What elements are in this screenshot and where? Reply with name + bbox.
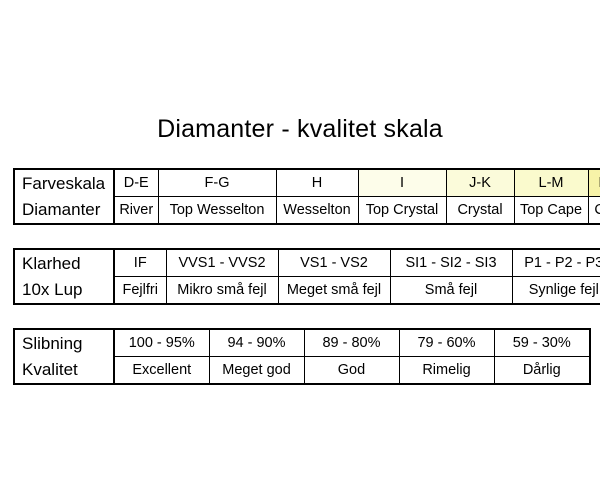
cut-scale-row-label: SlibningKvalitet: [14, 329, 114, 384]
color-scale-name-cell-3: Top Crystal: [358, 197, 446, 225]
cut-scale-name-cell-4: Dårlig: [494, 357, 590, 385]
color-scale-name-cell-2: Wesselton: [276, 197, 358, 225]
cut-scale-grade-cell-2: 89 - 80%: [304, 329, 399, 357]
cut-scale-name-cell-0: Excellent: [114, 357, 209, 385]
clarity-scale-grade-cell-1: VVS1 - VVS2: [166, 249, 278, 277]
klarhed-10x-lup-table: Klarhed10x LupIFVVS1 - VVS2VS1 - VS2SI1 …: [13, 248, 600, 305]
color-scale-grade-cell-1: F-G: [158, 169, 276, 197]
clarity-scale-name-cell-0: Fejlfri: [114, 277, 166, 305]
cut-scale-grade-cell-3: 79 - 60%: [399, 329, 494, 357]
color-scale-name-cell-1: Top Wesselton: [158, 197, 276, 225]
clarity-scale-grade-cell-4: P1 - P2 - P3: [512, 249, 600, 277]
cut-scale-grade-row: SlibningKvalitet100 - 95%94 - 90%89 - 80…: [14, 329, 590, 357]
color-scale-grade-cell-2: H: [276, 169, 358, 197]
clarity-scale-name-cell-1: Mikro små fejl: [166, 277, 278, 305]
cut-scale-name-cell-2: God: [304, 357, 399, 385]
document-page: Diamanter - kvalitet skala FarveskalaDia…: [0, 0, 600, 500]
farveskala-diamanter-table: FarveskalaDiamanterD-EF-GHIJ-KL-MN-ORive…: [13, 168, 600, 225]
cut-scale-name-cell-3: Rimelig: [399, 357, 494, 385]
cut-scale-grade-cell-1: 94 - 90%: [209, 329, 304, 357]
color-scale-grade-cell-6: N-O: [588, 169, 600, 197]
color-scale-grade-cell-5: L-M: [514, 169, 588, 197]
color-scale-name-cell-0: River: [114, 197, 158, 225]
cut-scale-grade-cell-4: 59 - 30%: [494, 329, 590, 357]
color-scale-name-cell-6: Cape: [588, 197, 600, 225]
color-scale-row-label-line-1: Diamanter: [22, 197, 113, 223]
color-table-body: FarveskalaDiamanterD-EF-GHIJ-KL-MN-ORive…: [14, 169, 600, 224]
cut-scale-row-label-line-0: Slibning: [22, 331, 113, 357]
clarity-table-body: Klarhed10x LupIFVVS1 - VVS2VS1 - VS2SI1 …: [14, 249, 600, 304]
clarity-scale-grade-row: Klarhed10x LupIFVVS1 - VVS2VS1 - VS2SI1 …: [14, 249, 600, 277]
cut-scale-name-cell-1: Meget god: [209, 357, 304, 385]
clarity-scale-name-cell-3: Små fejl: [390, 277, 512, 305]
color-scale-row-label: FarveskalaDiamanter: [14, 169, 114, 224]
color-scale-grade-cell-3: I: [358, 169, 446, 197]
slibning-kvalitet-table: SlibningKvalitet100 - 95%94 - 90%89 - 80…: [13, 328, 591, 385]
page-title: Diamanter - kvalitet skala: [0, 115, 600, 144]
color-scale-grade-cell-4: J-K: [446, 169, 514, 197]
clarity-scale-row-label: Klarhed10x Lup: [14, 249, 114, 304]
clarity-scale-grade-cell-2: VS1 - VS2: [278, 249, 390, 277]
cut-scale-grade-cell-0: 100 - 95%: [114, 329, 209, 357]
color-scale-name-cell-5: Top Cape: [514, 197, 588, 225]
color-scale-grade-row: FarveskalaDiamanterD-EF-GHIJ-KL-MN-O: [14, 169, 600, 197]
clarity-scale-name-cell-2: Meget små fejl: [278, 277, 390, 305]
cut-table-body: SlibningKvalitet100 - 95%94 - 90%89 - 80…: [14, 329, 590, 384]
clarity-scale-grade-cell-0: IF: [114, 249, 166, 277]
color-scale-grade-cell-0: D-E: [114, 169, 158, 197]
color-scale-name-cell-4: Crystal: [446, 197, 514, 225]
cut-scale-row-label-line-1: Kvalitet: [22, 357, 113, 383]
color-scale-row-label-line-0: Farveskala: [22, 171, 113, 197]
clarity-scale-row-label-line-0: Klarhed: [22, 251, 113, 277]
clarity-scale-row-label-line-1: 10x Lup: [22, 277, 113, 303]
clarity-scale-name-cell-4: Synlige fejl: [512, 277, 600, 305]
clarity-scale-grade-cell-3: SI1 - SI2 - SI3: [390, 249, 512, 277]
